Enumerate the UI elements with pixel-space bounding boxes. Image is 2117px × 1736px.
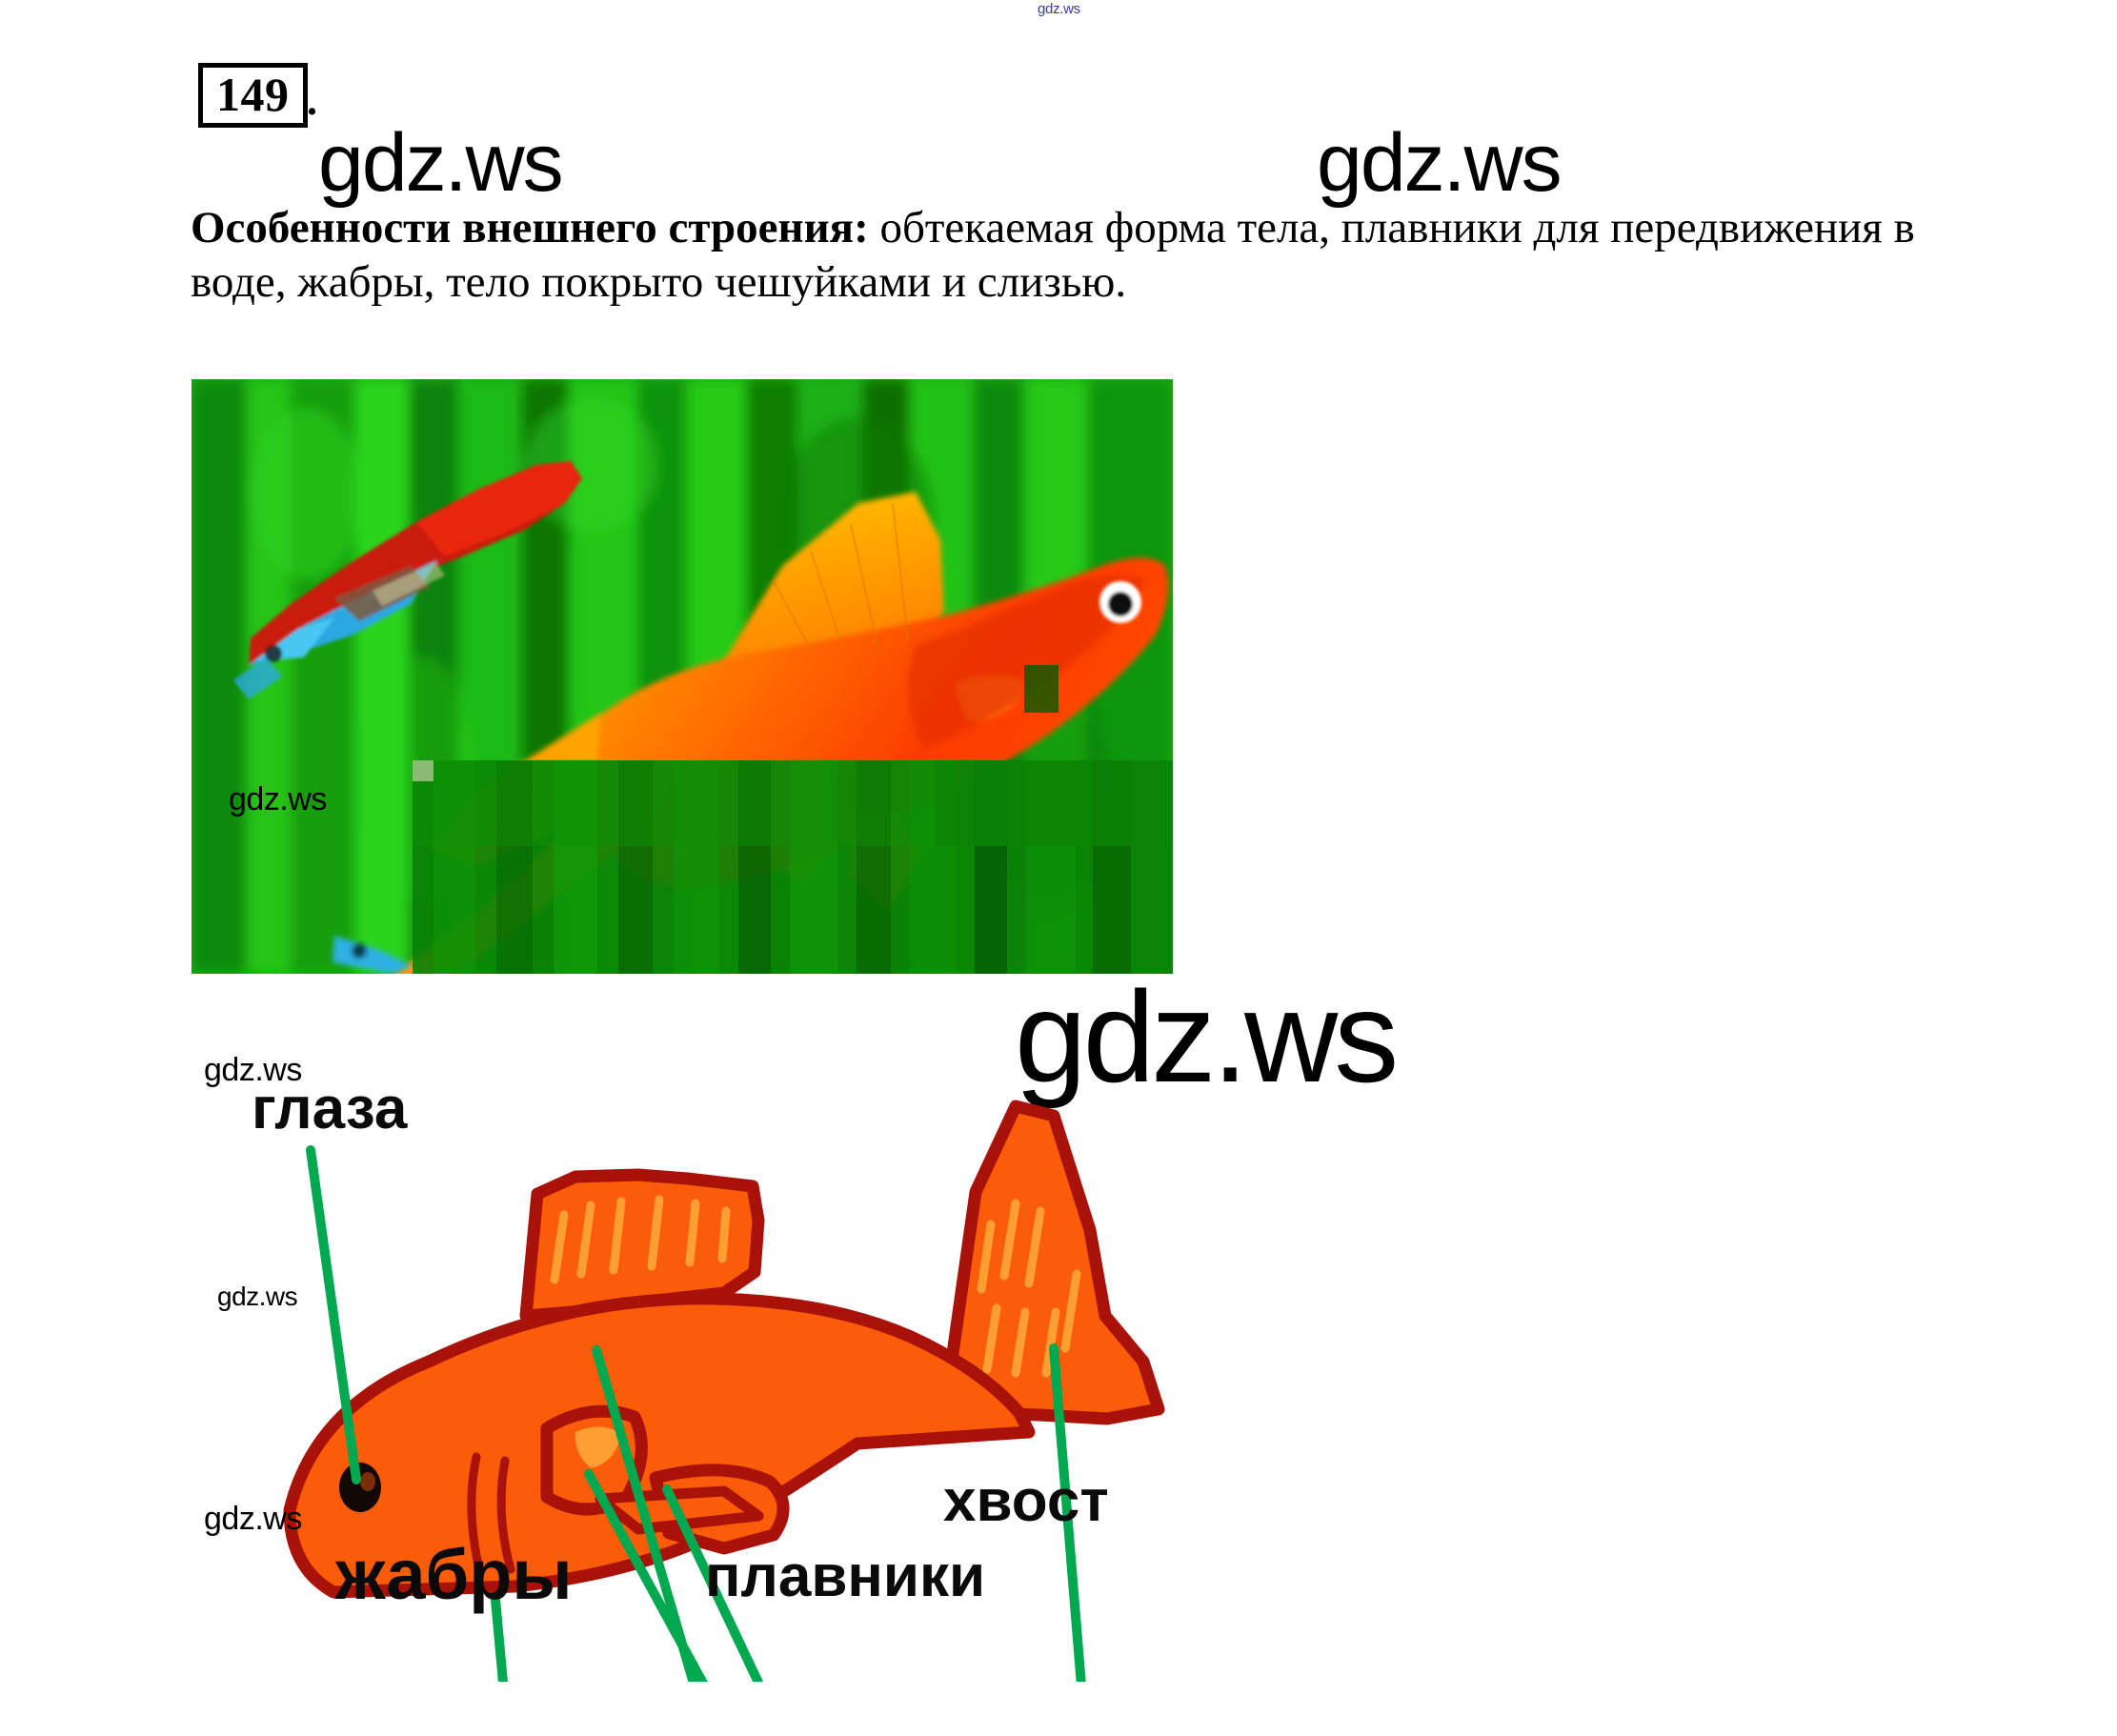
diagram-label-gills: жабры [335, 1534, 573, 1615]
watermark-large-top-right: gdz.ws [1317, 116, 1561, 211]
answer-paragraph: Особенности внешнего строения: обтекаема… [191, 201, 1978, 311]
exercise-number-box: 149 [198, 63, 308, 128]
answer-lead-label: Особенности внешнего строения: [191, 203, 869, 252]
exercise-number-suffix: . [307, 76, 317, 125]
watermark-diagram-top: gdz.ws [204, 1052, 302, 1089]
watermark-diagram-bottom: gdz.ws [204, 1501, 302, 1538]
diagram-label-fins: плавники [705, 1543, 985, 1610]
watermark-photo: gdz.ws [229, 781, 327, 818]
watermark-diagram-middle: gdz.ws [217, 1282, 297, 1312]
aquarium-photo-graphic [192, 379, 1173, 974]
diagram-label-tail: хвост [943, 1467, 1109, 1535]
watermark-top: gdz.ws [1038, 1, 1080, 17]
aquarium-photo [192, 379, 1173, 974]
watermark-large-top-left: gdz.ws [318, 116, 562, 211]
